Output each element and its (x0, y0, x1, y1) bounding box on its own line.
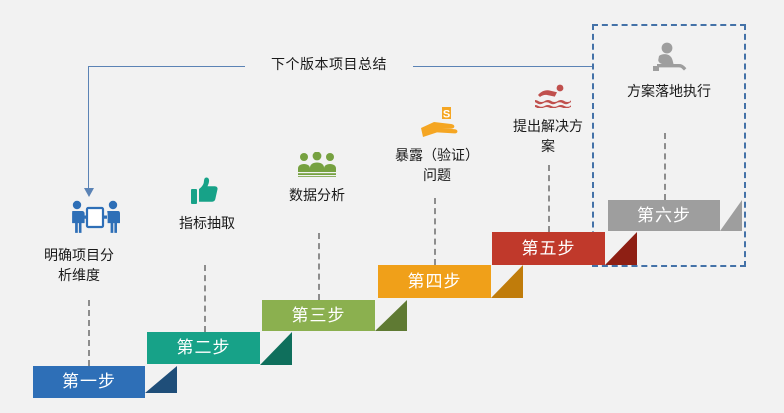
step-3-bar-label: 第三步 (292, 306, 346, 325)
step-6-caption: 方案落地执行 (609, 81, 729, 101)
step-1-caption-line1: 明确项目分 (24, 245, 134, 265)
hand-money-icon: S (420, 106, 458, 138)
step-4-dropper (434, 198, 436, 265)
summary-label: 下个版本项目总结 (245, 54, 413, 74)
step-4-bar[interactable]: 第四步 (378, 265, 491, 298)
infographic-canvas: 下个版本项目总结 明确项目分 析维度 第一步 指标抽取 第二步 (0, 0, 784, 413)
step-6-bar[interactable]: 第六步 (608, 200, 720, 231)
step-3-caption-line1: 数据分析 (262, 185, 372, 205)
step-5-dropper (548, 165, 550, 232)
thumbs-up-icon (190, 175, 222, 207)
step-6-bar-label: 第六步 (637, 206, 691, 225)
step-1-caption-line2: 析维度 (24, 265, 134, 285)
step-2-bar-label: 第二步 (177, 338, 231, 357)
step-6-bar-shadow (720, 200, 742, 231)
step-4-caption-line1: 暴露（验证） (378, 145, 496, 165)
step-4-bar-shadow (491, 265, 523, 298)
seated-person-icon (650, 42, 688, 76)
step-1-caption: 明确项目分 析维度 (24, 245, 134, 285)
step-5-bar-label: 第五步 (522, 239, 576, 258)
svg-text:S: S (443, 109, 450, 121)
step-1-dropper (88, 300, 90, 366)
summary-connector-line-vertical (88, 66, 89, 190)
down-arrow-icon (84, 188, 94, 197)
step-5-caption-line1: 提出解决方 (492, 116, 604, 136)
summary-connector-line-right (402, 66, 592, 67)
step-2-caption: 指标抽取 (152, 213, 262, 233)
step-6-dropper (664, 133, 666, 200)
step-5-caption: 提出解决方 案 (492, 116, 604, 156)
step-5-caption-line2: 案 (492, 136, 604, 156)
two-people-board-icon (68, 200, 122, 234)
step-2-bar[interactable]: 第二步 (147, 332, 260, 364)
step-4-caption: 暴露（验证） 问题 (378, 145, 496, 185)
step-2-caption-line1: 指标抽取 (152, 213, 262, 233)
step-3-caption: 数据分析 (262, 185, 372, 205)
step-5-bar[interactable]: 第五步 (492, 232, 605, 265)
step-2-bar-shadow (260, 332, 292, 365)
step-2-dropper (204, 265, 206, 332)
step-6-caption-line1: 方案落地执行 (609, 81, 729, 101)
summary-connector-line-left (88, 66, 248, 67)
step-4-bar-label: 第四步 (408, 272, 462, 291)
step-1-bar-shadow (145, 366, 177, 393)
step-3-dropper (318, 233, 320, 300)
step-1-bar[interactable]: 第一步 (33, 366, 145, 398)
swimmer-icon (535, 84, 571, 108)
step-4-caption-line2: 问题 (378, 165, 496, 185)
step-3-bar[interactable]: 第三步 (262, 300, 375, 331)
step-3-bar-shadow (375, 300, 407, 331)
step-1-bar-label: 第一步 (62, 372, 116, 391)
step-5-bar-shadow (605, 232, 637, 265)
people-group-icon (298, 152, 336, 178)
